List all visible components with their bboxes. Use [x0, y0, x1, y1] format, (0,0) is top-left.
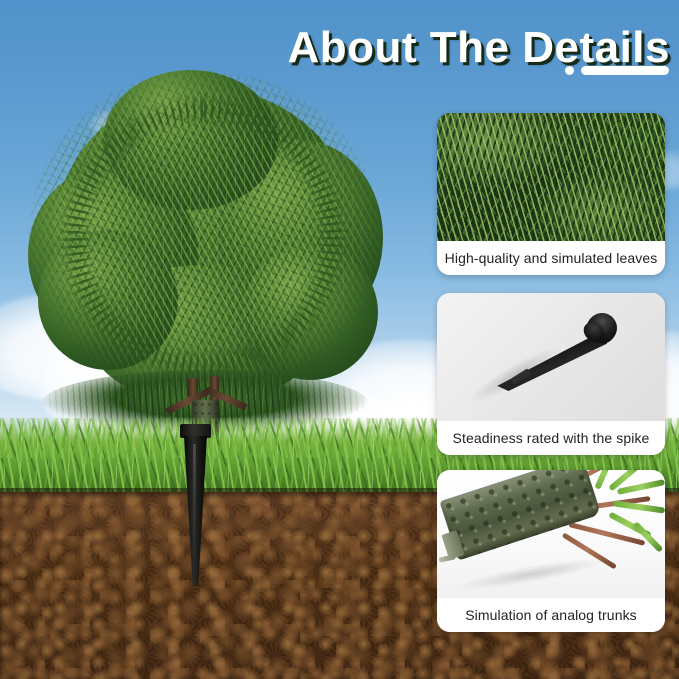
spike-illustration [489, 311, 615, 407]
card-caption: High-quality and simulated leaves [437, 241, 665, 275]
callout-card-leaves[interactable]: High-quality and simulated leaves [437, 113, 665, 275]
trunk-drop-shadow [457, 553, 607, 595]
trunk-connector-pin [439, 554, 456, 562]
foliage-closeup-photo [437, 113, 665, 241]
accent-bar-icon [581, 66, 669, 75]
ground-spike-photo [437, 293, 665, 421]
card-caption: Simulation of analog trunks [437, 598, 665, 632]
card-caption: Steadiness rated with the spike [437, 421, 665, 455]
spike-collar [180, 424, 211, 438]
trunk-closeup-photo [437, 470, 665, 598]
callout-card-spike[interactable]: Steadiness rated with the spike [437, 293, 665, 455]
product-detail-infographic: About The Details High-quality and simul… [0, 0, 679, 679]
callout-card-trunk[interactable]: Simulation of analog trunks [437, 470, 665, 632]
title-accent [565, 66, 669, 75]
accent-dot-icon [565, 66, 574, 75]
leaf-blade [633, 521, 664, 553]
tree-canopy [28, 70, 380, 406]
canopy-edge-needles [22, 64, 386, 412]
